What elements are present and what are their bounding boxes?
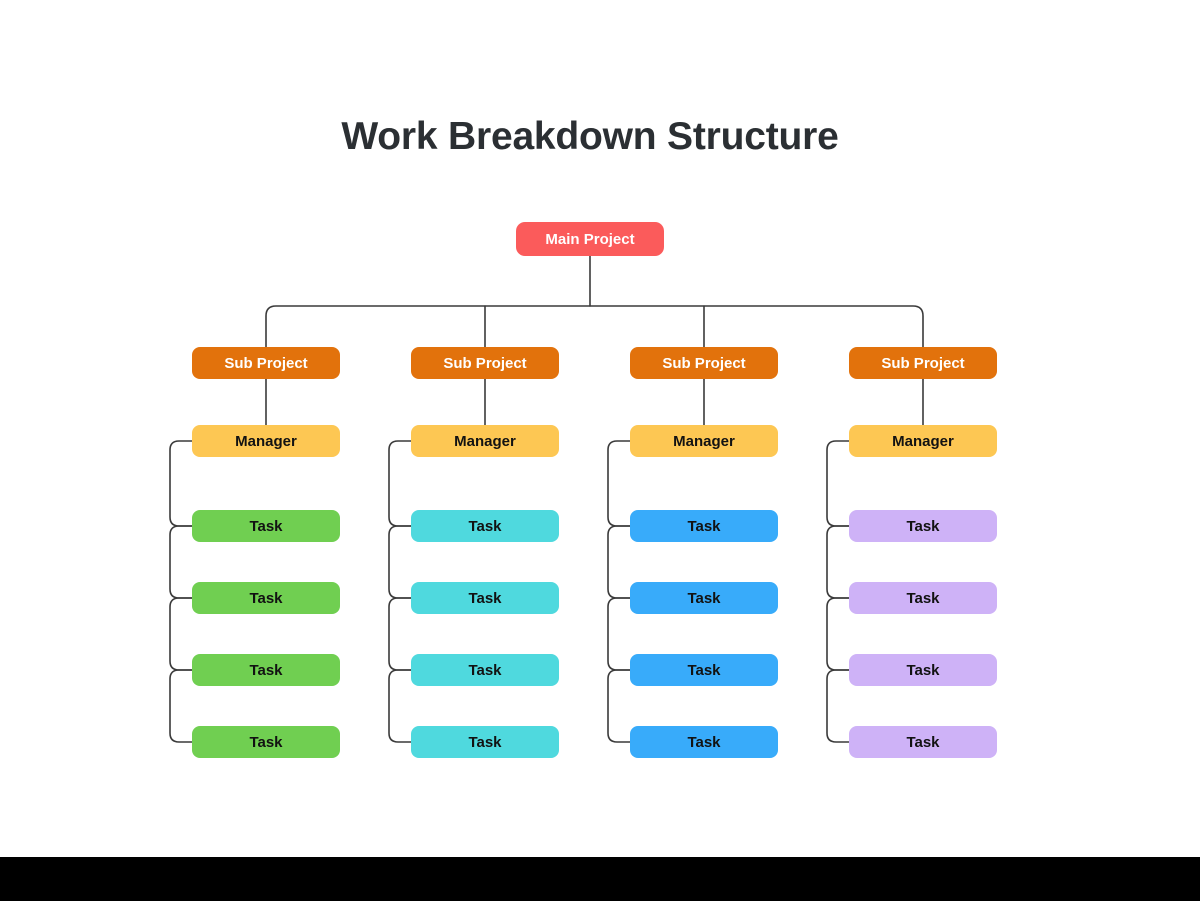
connector-chain-4-1 <box>827 441 849 526</box>
node-task-4-3[interactable]: Task <box>849 654 997 686</box>
node-task-2-2[interactable]: Task <box>411 582 559 614</box>
page-title: Work Breakdown Structure <box>0 116 1180 159</box>
node-task-1-1[interactable]: Task <box>192 510 340 542</box>
node-manager-4[interactable]: Manager <box>849 425 997 457</box>
connector-chain-4-2 <box>827 526 849 598</box>
node-sub-project-2[interactable]: Sub Project <box>411 347 559 379</box>
node-main-project[interactable]: Main Project <box>516 222 664 256</box>
footer-bar <box>0 857 1200 901</box>
node-task-3-2[interactable]: Task <box>630 582 778 614</box>
connector-chain-1-3 <box>170 598 192 670</box>
connector-chain-2-2 <box>389 526 411 598</box>
node-task-4-4[interactable]: Task <box>849 726 997 758</box>
node-sub-project-4[interactable]: Sub Project <box>849 347 997 379</box>
node-task-1-4[interactable]: Task <box>192 726 340 758</box>
connector-chain-1-2 <box>170 526 192 598</box>
node-task-1-3[interactable]: Task <box>192 654 340 686</box>
connector-chain-2-3 <box>389 598 411 670</box>
connector-chain-1-1 <box>170 441 192 526</box>
node-task-3-4[interactable]: Task <box>630 726 778 758</box>
connector-chain-3-4 <box>608 670 630 742</box>
connector-chain-2-1 <box>389 441 411 526</box>
node-task-4-1[interactable]: Task <box>849 510 997 542</box>
node-task-2-1[interactable]: Task <box>411 510 559 542</box>
connector-chain-3-2 <box>608 526 630 598</box>
connector-chain-3-3 <box>608 598 630 670</box>
node-sub-project-1[interactable]: Sub Project <box>192 347 340 379</box>
node-task-2-4[interactable]: Task <box>411 726 559 758</box>
node-manager-2[interactable]: Manager <box>411 425 559 457</box>
node-manager-3[interactable]: Manager <box>630 425 778 457</box>
node-task-3-1[interactable]: Task <box>630 510 778 542</box>
node-task-4-2[interactable]: Task <box>849 582 997 614</box>
node-task-1-2[interactable]: Task <box>192 582 340 614</box>
connector-chain-3-1 <box>608 441 630 526</box>
node-manager-1[interactable]: Manager <box>192 425 340 457</box>
node-sub-project-3[interactable]: Sub Project <box>630 347 778 379</box>
connector-root-bus <box>266 306 923 347</box>
connector-chain-4-3 <box>827 598 849 670</box>
wbs-slide: Work Breakdown Structure Main ProjectSub… <box>0 0 1200 911</box>
connector-chain-4-4 <box>827 670 849 742</box>
node-task-2-3[interactable]: Task <box>411 654 559 686</box>
connector-chain-2-4 <box>389 670 411 742</box>
node-task-3-3[interactable]: Task <box>630 654 778 686</box>
connector-chain-1-4 <box>170 670 192 742</box>
